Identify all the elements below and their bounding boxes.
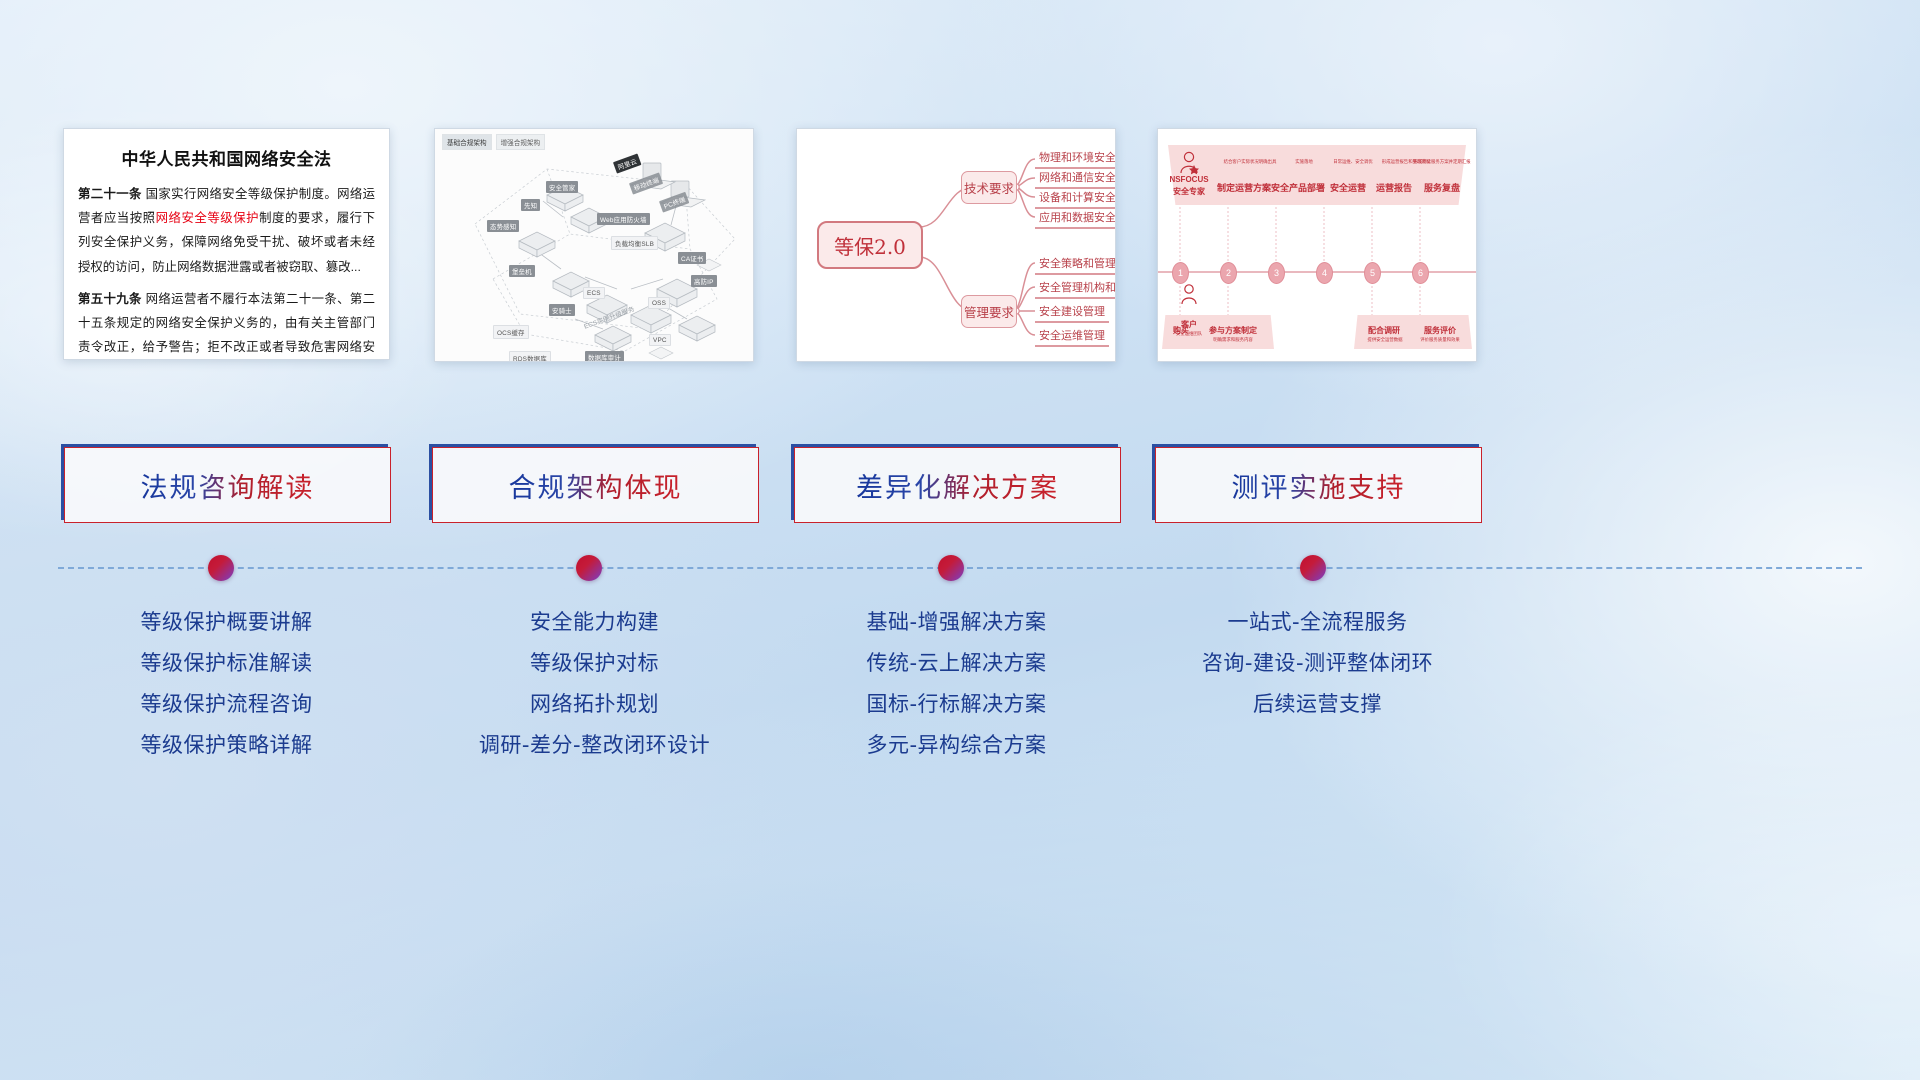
mindmap-leaf: 网络和通信安全 <box>1035 169 1116 189</box>
nsfocus-step-number: 6 <box>1412 262 1429 284</box>
nsfocus-bottom-caption: 明确需求和服务内容 <box>1202 337 1264 343</box>
mindmap-leaf: 安全管理机构和人员 <box>1035 279 1116 299</box>
node-label-gaofangip: 高防IP <box>691 275 717 287</box>
nsfocus-step-number: 2 <box>1220 262 1237 284</box>
node-label-waf: Web应用防火墙 <box>597 213 650 225</box>
mindmap-branch-technical: 技术要求 <box>961 171 1017 204</box>
feature-item: 等级保护策略详解 <box>64 735 389 756</box>
feature-item: 等级保护标准解读 <box>64 653 389 674</box>
nsfocus-top-caption: 形成持续服务方案并定期汇报 <box>1402 159 1477 165</box>
nsfocus-bottom-step: 购买 <box>1160 325 1202 336</box>
node-label-baoleiji: 堡垒机 <box>509 265 535 277</box>
mindmap-leaf: 设备和计算安全 <box>1035 189 1116 209</box>
node-label-db-audit: 数据库审计 <box>585 351 624 362</box>
node-label-rds: RDS数据库 <box>509 351 551 362</box>
person-icon <box>1181 152 1199 174</box>
node-label-ocs: OCS缓存 <box>493 325 529 339</box>
section-title-box-2[interactable]: 合规架构体现 <box>432 447 759 523</box>
section-title-text: 合规架构体现 <box>509 466 683 505</box>
screenshot-card-law[interactable]: 中华人民共和国网络安全法 第二十一条 国家实行网络安全等级保护制度。网络运营者应… <box>63 128 390 360</box>
feature-column-3: 基础-增强解决方案 传统-云上解决方案 国标-行标解决方案 多元-异构综合方案 <box>794 612 1119 776</box>
nsfocus-bottom-step: 服务评价 <box>1414 325 1466 336</box>
nsfocus-step-number: 3 <box>1268 262 1285 284</box>
node-label-anquanguanjia: 安全管家 <box>546 181 578 193</box>
mindmap-root-node: 等保2.0 <box>817 221 923 269</box>
node-label-vpc: VPC <box>649 334 671 346</box>
nsfocus-brand: NSFOCUS <box>1164 175 1214 184</box>
feature-item: 咨询-建设-测评整体闭环 <box>1155 653 1480 674</box>
node-label-anqishi: 安骑士 <box>549 304 575 316</box>
mindmap-leaf: 物理和环境安全 <box>1035 149 1116 169</box>
nsfocus-bottom-step: 参与方案制定 <box>1202 325 1264 336</box>
feature-item: 基础-增强解决方案 <box>794 612 1119 633</box>
section-title-text: 测评实施支持 <box>1232 466 1406 505</box>
law-paragraph-21: 第二十一条 国家实行网络安全等级保护制度。网络运营者应当按照网络安全等级保护制度… <box>78 182 375 279</box>
nsfocus-step-number: 4 <box>1316 262 1333 284</box>
timeline-dot-3[interactable] <box>938 555 964 581</box>
nsfocus-top-step: 制定运营方案 <box>1214 181 1274 194</box>
feature-item: 等级保护流程咨询 <box>64 694 389 715</box>
timeline-dot-2[interactable] <box>576 555 602 581</box>
nsfocus-brand-sub: 安全专家 <box>1164 186 1214 197</box>
feature-column-2: 安全能力构建 等级保护对标 网络拓扑规划 调研-差分-整改闭环设计 <box>432 612 757 776</box>
timeline-dot-4[interactable] <box>1300 555 1326 581</box>
feature-item: 传统-云上解决方案 <box>794 653 1119 674</box>
nsfocus-top-step: 安全产品部署 <box>1268 181 1328 194</box>
law-run-highlight: 网络安全等级保护 <box>156 211 260 225</box>
nsfocus-bottom-caption: 评价服务质量和效果 <box>1410 337 1470 343</box>
nsfocus-bottom-caption: 提供安全运营数据 <box>1356 337 1414 343</box>
section-title-text: 差异化解决方案 <box>856 466 1059 505</box>
node-label-xianzhi: 先知 <box>521 199 540 211</box>
node-label-ca: CA证书 <box>678 252 706 264</box>
law-paragraph-59: 第五十九条 网络运营者不履行本法第二十一条、第二十五条规定的网络安全保护义务的，… <box>78 287 375 360</box>
section-title-box-1[interactable]: 法规咨询解读 <box>64 447 391 523</box>
nsfocus-top-step: 服务复盘 <box>1416 181 1468 194</box>
screenshot-card-nsfocus[interactable]: NSFOCUS 安全专家 结合客户实际状况明确出具 实施落地 日常运维、安全调优… <box>1157 128 1477 362</box>
person-icon-bottom <box>1182 285 1196 304</box>
screenshot-card-mindmap[interactable]: 等保2.0 技术要求 管理要求 物理和环境安全 网络和通信安全 设备和计算安全 … <box>796 128 1116 362</box>
feature-column-4: 一站式-全流程服务 咨询-建设-测评整体闭环 后续运营支撑 <box>1155 612 1480 735</box>
law-article-label-59: 第五十九条 <box>78 292 142 306</box>
timeline-dot-1[interactable] <box>208 555 234 581</box>
nsfocus-step-number: 5 <box>1364 262 1381 284</box>
feature-item: 后续运营支撑 <box>1155 694 1480 715</box>
section-title-box-3[interactable]: 差异化解决方案 <box>794 447 1121 523</box>
slide-root: 中华人民共和国网络安全法 第二十一条 国家实行网络安全等级保护制度。网络运营者应… <box>0 0 1920 1080</box>
node-label-ecs: ECS <box>583 287 605 299</box>
nsfocus-top-step: 运营报告 <box>1368 181 1420 194</box>
mindmap-branch-management: 管理要求 <box>961 295 1017 328</box>
law-title: 中华人民共和国网络安全法 <box>78 145 375 170</box>
feature-item: 一站式-全流程服务 <box>1155 612 1480 633</box>
nsfocus-step-number: 1 <box>1172 262 1189 284</box>
feature-item: 安全能力构建 <box>432 612 757 633</box>
feature-column-1: 等级保护概要讲解 等级保护标准解读 等级保护流程咨询 等级保护策略详解 <box>64 612 389 776</box>
feature-item: 等级保护对标 <box>432 653 757 674</box>
law-article-label-21: 第二十一条 <box>78 187 142 201</box>
node-label-taishiganzhi: 态势感知 <box>487 220 519 232</box>
section-title-text: 法规咨询解读 <box>141 466 315 505</box>
mindmap-leaf: 应用和数据安全 <box>1035 209 1116 229</box>
mindmap-leaf: 安全建设管理 <box>1035 303 1109 323</box>
section-title-box-4[interactable]: 测评实施支持 <box>1155 447 1482 523</box>
feature-item: 等级保护概要讲解 <box>64 612 389 633</box>
feature-item: 多元-异构综合方案 <box>794 735 1119 756</box>
nsfocus-top-step: 安全运营 <box>1322 181 1374 194</box>
node-label-slb: 负载均衡SLB <box>611 236 658 250</box>
feature-item: 国标-行标解决方案 <box>794 694 1119 715</box>
feature-item: 调研-差分-整改闭环设计 <box>432 735 757 756</box>
screenshot-card-architecture[interactable]: 基础合规架构 增强合规架构 <box>434 128 754 362</box>
mindmap-leaf: 安全策略和管理制度 <box>1035 255 1116 275</box>
nsfocus-bottom-step: 配合调研 <box>1358 325 1410 336</box>
feature-item: 网络拓扑规划 <box>432 694 757 715</box>
mindmap-leaf: 安全运维管理 <box>1035 327 1109 347</box>
node-label-oss: OSS <box>648 297 670 309</box>
